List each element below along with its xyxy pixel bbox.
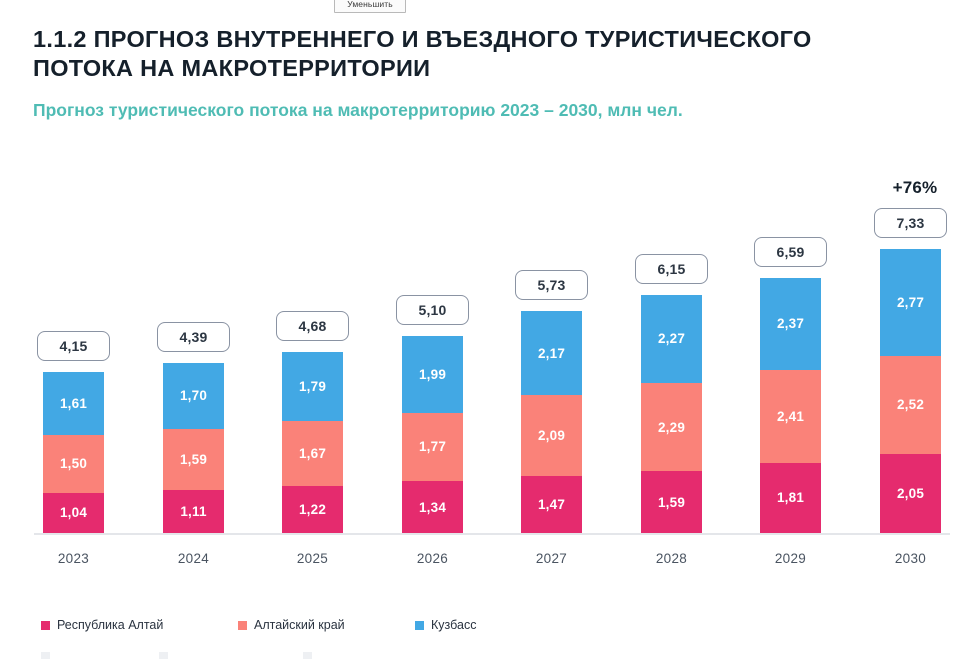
bar-segment: 1,11 (163, 490, 224, 533)
bar-segment: 1,67 (282, 421, 343, 486)
legend-item[interactable]: Кузбасс (415, 618, 476, 632)
square-swatch-icon (238, 621, 247, 630)
bar-stack: 1,611,501,04 (43, 372, 104, 533)
bar-stack: 1,991,771,34 (402, 336, 463, 533)
x-axis-tick-label: 2024 (153, 551, 234, 566)
bar-segment: 2,77 (880, 249, 941, 356)
bar-segment: 1,04 (43, 493, 104, 533)
bar-stack: 2,272,291,59 (641, 295, 702, 533)
bar-segment: 1,59 (163, 429, 224, 491)
bar-segment: 2,37 (760, 278, 821, 370)
legend-item[interactable]: Республика Алтай (41, 618, 163, 632)
x-axis-tick-label: 2026 (392, 551, 473, 566)
bar-segment: 1,34 (402, 481, 463, 533)
bar-group: 2,272,291,596,152028 (641, 295, 702, 533)
x-axis-tick-label: 2025 (272, 551, 353, 566)
legend-item-label: Республика Алтай (57, 618, 163, 632)
square-swatch-icon (303, 652, 312, 659)
square-swatch-icon (415, 621, 424, 630)
bar-group: 2,372,411,816,592029 (760, 278, 821, 533)
bar-segment: 1,22 (282, 486, 343, 533)
bar-segment: 2,52 (880, 356, 941, 454)
bar-segment: 2,27 (641, 295, 702, 383)
square-swatch-icon (41, 652, 50, 659)
chart-legend-clipped-row (41, 652, 541, 659)
bar-stack: 2,772,522,05 (880, 249, 941, 533)
bar-total-pill: 7,33 (874, 208, 947, 238)
bar-group: 1,611,501,044,152023 (43, 372, 104, 533)
bar-segment: 2,17 (521, 311, 582, 395)
bar-segment: 2,41 (760, 370, 821, 463)
bar-segment: 1,70 (163, 363, 224, 429)
bar-stack: 1,701,591,11 (163, 363, 224, 533)
x-axis-tick-label: 2028 (631, 551, 712, 566)
x-axis-tick-label: 2029 (750, 551, 831, 566)
x-axis-tick-label: 2023 (33, 551, 114, 566)
x-axis-tick-label: 2030 (870, 551, 951, 566)
bar-segment: 2,29 (641, 383, 702, 472)
x-axis-tick-label: 2027 (511, 551, 592, 566)
growth-annotation: +76% (880, 178, 950, 198)
legend-item[interactable]: Алтайский край (238, 618, 345, 632)
bar-segment: 1,61 (43, 372, 104, 434)
bar-total-pill: 4,39 (157, 322, 230, 352)
bar-total-pill: 4,68 (276, 311, 349, 341)
bar-segment: 1,59 (641, 471, 702, 533)
square-swatch-icon (41, 621, 50, 630)
bar-group: 2,172,091,475,732027 (521, 311, 582, 533)
bar-segment: 1,99 (402, 336, 463, 413)
bar-stack: 2,172,091,47 (521, 311, 582, 533)
bar-total-pill: 4,15 (37, 331, 110, 361)
bar-total-pill: 6,59 (754, 237, 827, 267)
bar-stack: 1,791,671,22 (282, 352, 343, 533)
bar-group: 1,701,591,114,392024 (163, 363, 224, 533)
bar-group: 1,791,671,224,682025 (282, 352, 343, 533)
stacked-bar-chart: +76% 1,611,501,044,1520231,701,591,114,3… (0, 0, 966, 659)
bar-segment: 1,47 (521, 476, 582, 533)
bar-segment: 2,09 (521, 395, 582, 476)
bar-segment: 1,77 (402, 413, 463, 481)
bar-segment: 1,79 (282, 352, 343, 421)
legend-item-label: Кузбасс (431, 618, 476, 632)
bar-total-pill: 5,73 (515, 270, 588, 300)
bar-group: 2,772,522,057,332030 (880, 249, 941, 533)
bar-group: 1,991,771,345,102026 (402, 336, 463, 533)
bar-segment: 2,05 (880, 454, 941, 533)
bar-segment: 1,81 (760, 463, 821, 533)
legend-item-label: Алтайский край (254, 618, 345, 632)
bar-total-pill: 6,15 (635, 254, 708, 284)
chart-baseline-axis (34, 533, 950, 535)
bar-stack: 2,372,411,81 (760, 278, 821, 533)
bar-segment: 1,50 (43, 435, 104, 493)
bar-total-pill: 5,10 (396, 295, 469, 325)
square-swatch-icon (159, 652, 168, 659)
